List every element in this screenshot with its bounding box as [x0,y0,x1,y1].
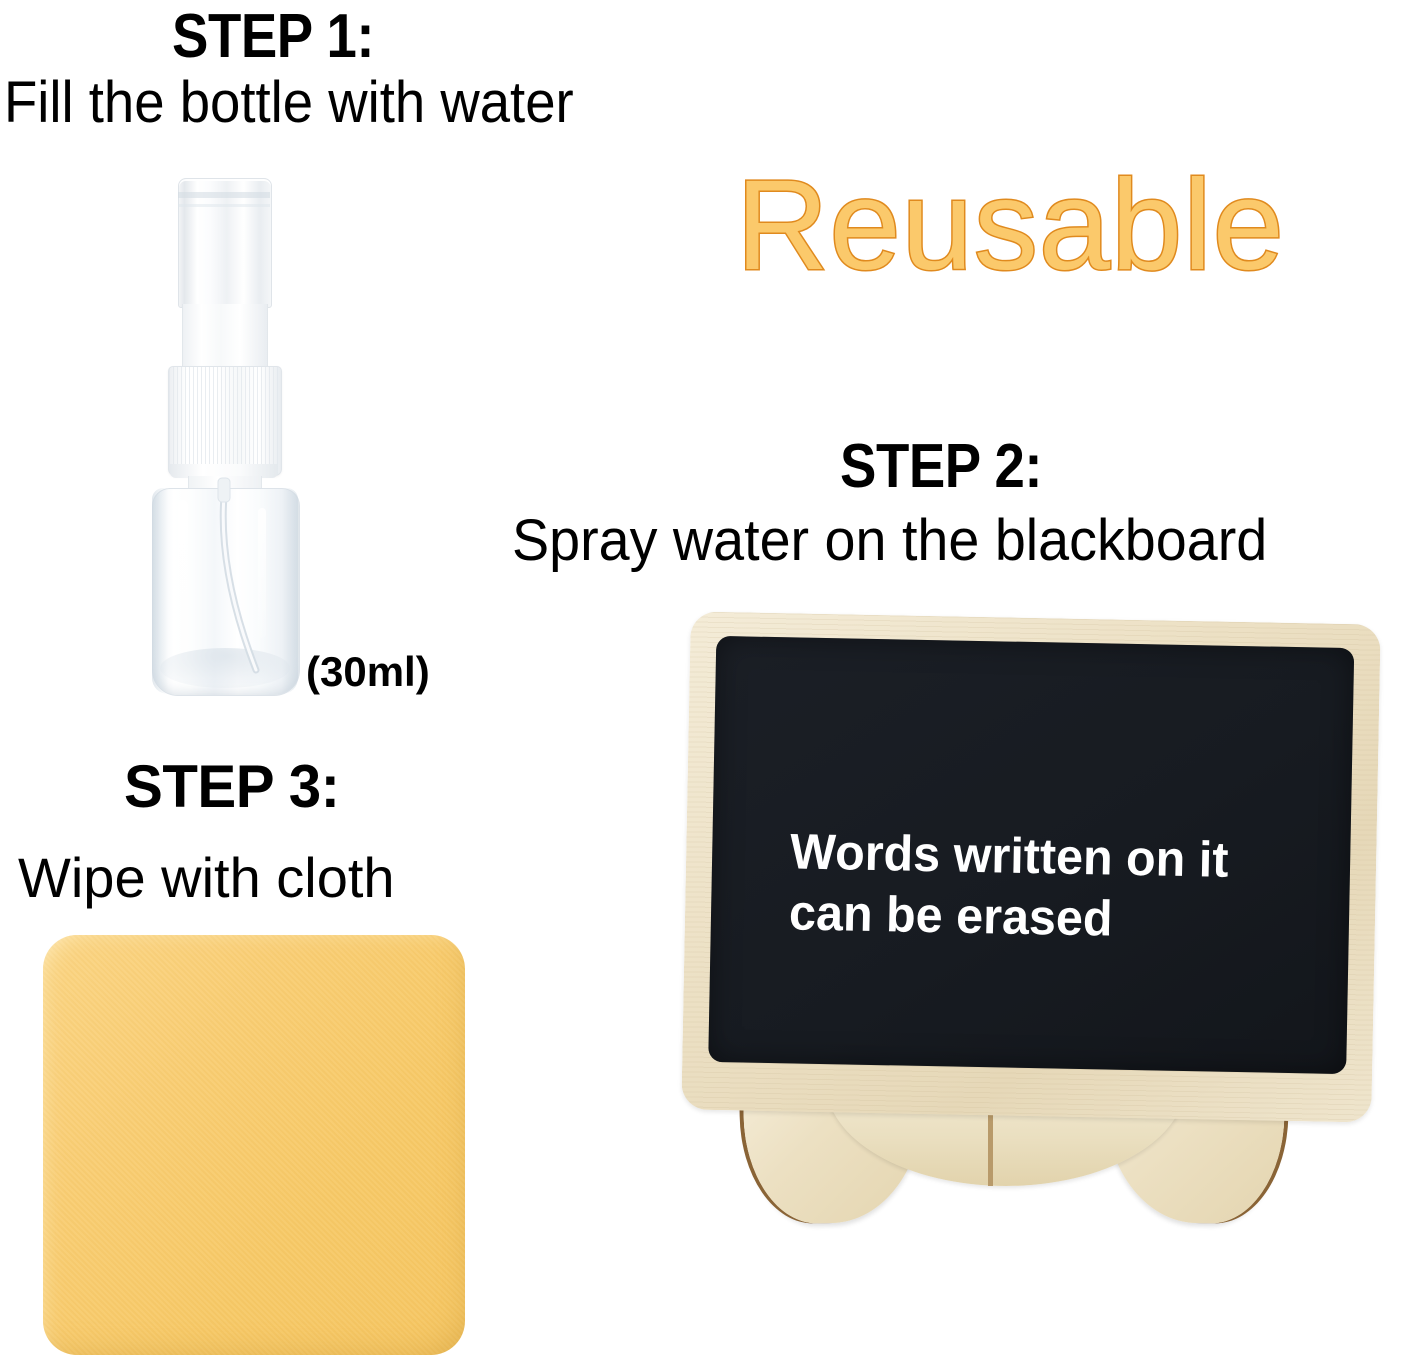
step-3-heading: STEP 3: [124,757,339,817]
bottle-highlight-right [258,508,266,638]
reusable-banner-text: Reusable [736,162,1285,290]
blackboard-message: Words written on it can be erased [788,821,1363,954]
blackboard-message-line-1: Words written on it [790,821,1363,893]
cleaning-cloth-image [43,935,465,1355]
step-3-subtitle: Wipe with cloth [18,850,395,906]
bottle-cap-ridge [178,192,270,198]
bottle-cap-shoulder [182,304,268,370]
step-2-heading: STEP 2: [840,436,1042,498]
bottle-highlight-left [178,500,188,660]
step-1-heading: STEP 1: [172,6,374,68]
step-1-subtitle: Fill the bottle with water [4,74,574,132]
step-2-subtitle: Spray water on the blackboard [512,512,1267,570]
blackboard-slate-surface: Words written on it can be erased [708,636,1354,1074]
infographic-canvas: STEP 1: Fill the bottle with water (30ml… [0,0,1413,1356]
bottle-cap-ridge-two [178,204,270,207]
mini-blackboard-image: Words written on it can be erased [666,596,1396,1236]
blackboard-message-line-2: can be erased [788,882,1361,954]
blackboard-frame: Words written on it can be erased [681,611,1380,1122]
bottle-capacity-label: (30ml) [306,648,430,696]
bottle-pump-collar [168,366,282,476]
bottle-bottom-shading [160,648,290,688]
spray-bottle-image [140,178,320,694]
